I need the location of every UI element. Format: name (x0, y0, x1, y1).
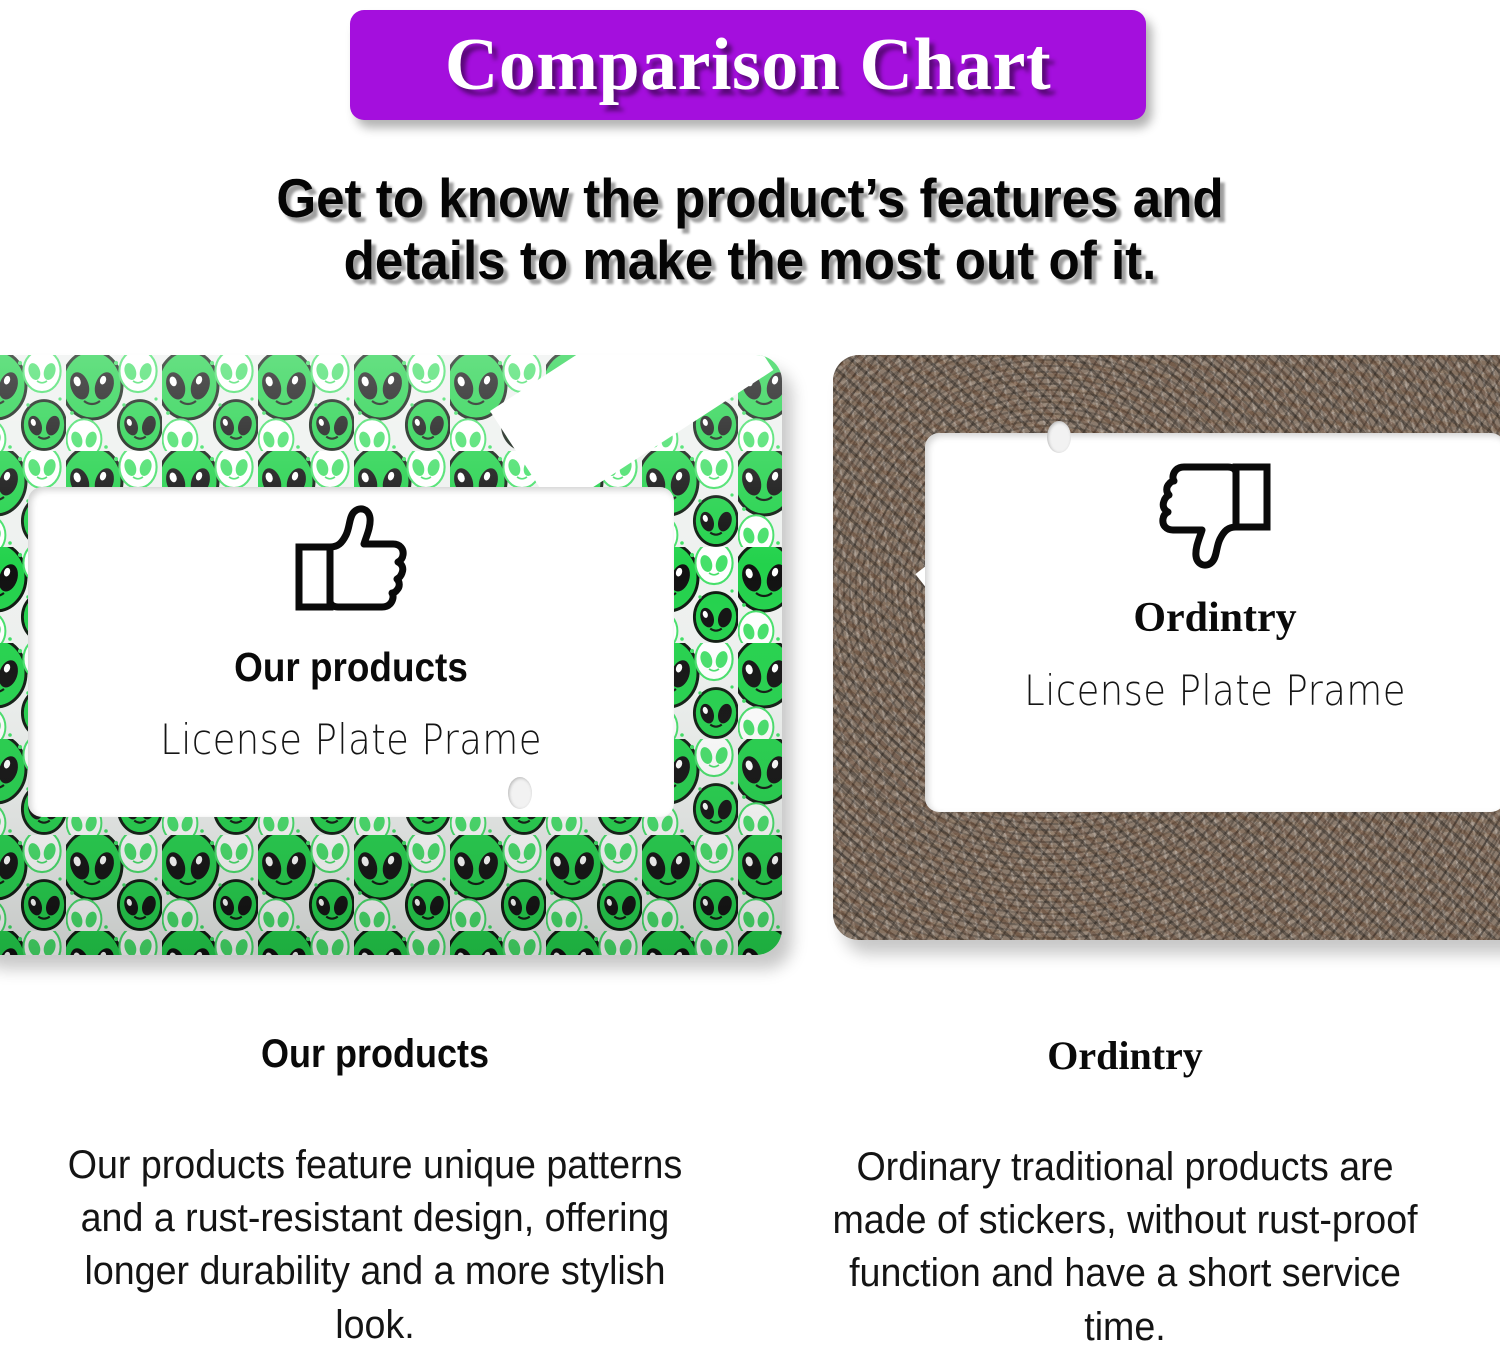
our-products-product-label: License Plate Prame (67, 715, 635, 764)
our-product-frame-image: Our products License Plate Prame (0, 355, 782, 955)
description-row: Our products Our products feature unique… (0, 1032, 1500, 1354)
our-products-description-body: Our products feature unique patterns and… (68, 1139, 683, 1352)
our-products-description-column: Our products Our products feature unique… (0, 1032, 750, 1354)
ordinary-product-frame-image: Ordintry License Plate Prame (833, 355, 1500, 940)
comparison-chart-banner: Comparison Chart (350, 10, 1146, 120)
screw-hole-icon (1047, 421, 1071, 453)
subtitle-line-1: Get to know the product’s features and (53, 168, 1448, 230)
page-title: Comparison Chart (445, 28, 1051, 102)
ordintry-brand-label: Ordintry (925, 594, 1500, 642)
our-products-description-heading: Our products (81, 1032, 670, 1077)
thumbs-up-icon (292, 501, 410, 628)
our-products-brand-label: Our products (60, 644, 641, 691)
thumbs-down-icon (1156, 451, 1274, 578)
ordintry-description-heading: Ordintry (798, 1032, 1452, 1079)
ordintry-description-column: Ordintry Ordinary traditional products a… (750, 1032, 1500, 1354)
ordintry-product-label: License Plate Prame (960, 666, 1470, 715)
subtitle-line-2: details to make the most out of it. (53, 230, 1448, 292)
screw-hole-icon (508, 777, 532, 809)
ordintry-description-body: Ordinary traditional products are made o… (818, 1141, 1433, 1354)
ordinary-window-content: Ordintry License Plate Prame (925, 451, 1500, 715)
subtitle: Get to know the product’s features and d… (53, 168, 1448, 291)
our-product-window-content: Our products License Plate Prame (28, 501, 674, 764)
